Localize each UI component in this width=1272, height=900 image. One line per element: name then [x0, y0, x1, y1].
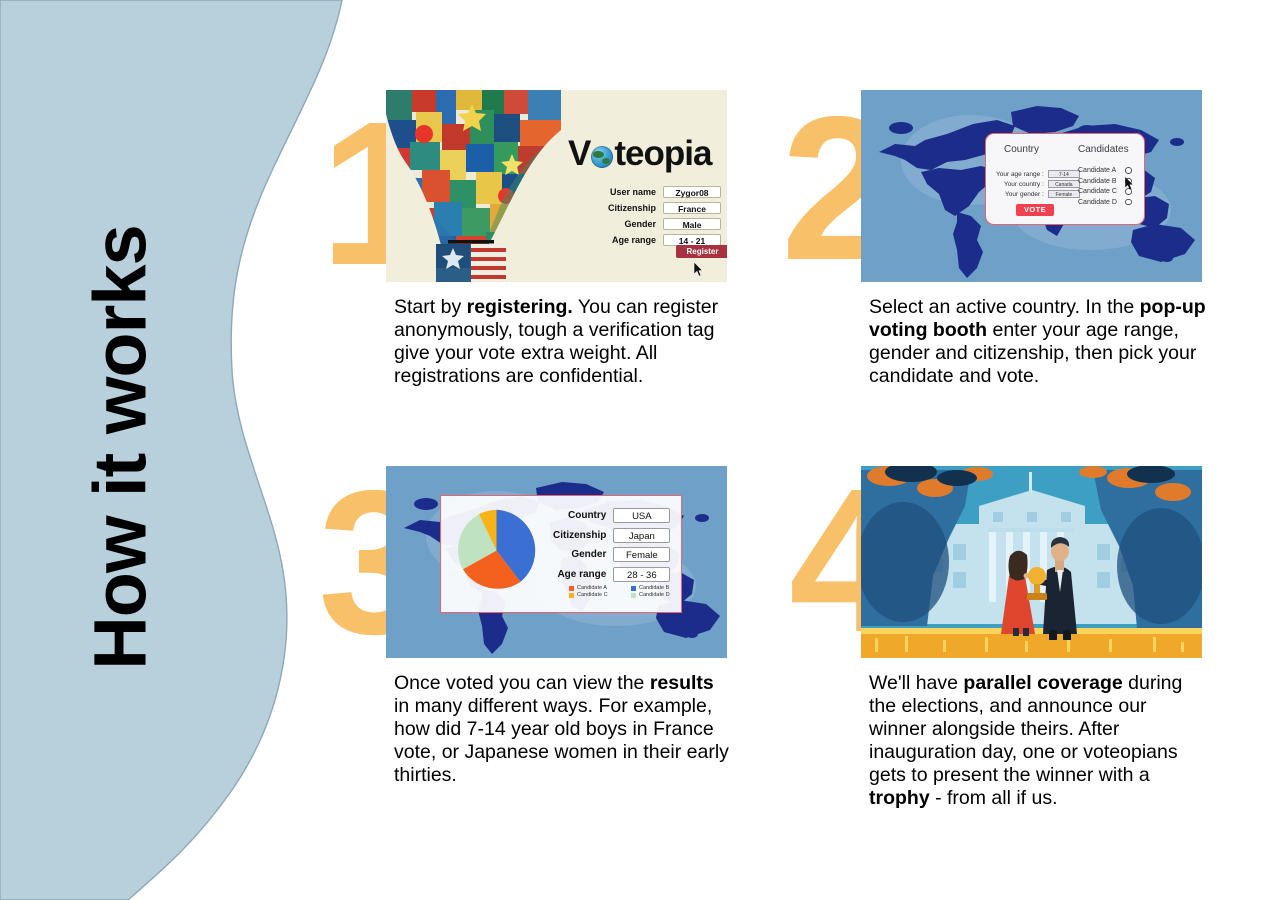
booth-age-label: Your age range : — [996, 171, 1044, 178]
step-4-image — [861, 466, 1202, 658]
candidate-d-label: Candidate D — [1078, 199, 1122, 206]
flag-collage-illustration — [386, 90, 561, 282]
caption-seg: Start by — [394, 296, 467, 318]
booth-heading-candidates: Candidates — [1078, 144, 1129, 155]
citizenship-input[interactable]: France — [663, 202, 721, 214]
legend-label-c: Candidate C — [577, 592, 608, 598]
legend-swatch-c — [569, 593, 574, 598]
step-2-image: Country Candidates Your age range : 7-14… — [861, 90, 1202, 282]
candidate-option-b[interactable]: Candidate B — [1078, 178, 1132, 185]
legend-label-b: Candidate B — [639, 585, 669, 591]
legend-swatch-a — [569, 586, 574, 591]
candidate-c-label: Candidate C — [1078, 188, 1122, 195]
result-row-citizenship: Citizenship Japan — [553, 528, 670, 543]
result-row-agerange: Age range 28 - 36 — [553, 567, 670, 582]
caption-seg: - from all if us. — [930, 787, 1058, 809]
logo-text-teopia: teopia — [614, 134, 711, 174]
result-gender-input[interactable]: Female — [613, 547, 670, 562]
result-gender-label: Gender — [571, 549, 606, 560]
legend-label-a: Candidate A — [577, 585, 607, 591]
booth-heading-country: Country — [1004, 144, 1039, 155]
candidate-option-a[interactable]: Candidate A — [1078, 167, 1132, 174]
white-house-scene — [861, 466, 1202, 658]
step-card-4: 4 — [861, 466, 1206, 658]
result-row-gender: Gender Female — [553, 547, 670, 562]
legend-item-candidate-c: Candidate C — [569, 592, 625, 598]
step-2-caption: Select an active country. In the pop-up … — [869, 296, 1209, 388]
caption-seg-bold: parallel coverage — [963, 672, 1122, 694]
mouse-cursor-icon — [694, 262, 705, 277]
caption-seg-bold: registering. — [467, 296, 573, 318]
results-filter-form: Country USA Citizenship Japan Gender Fem… — [553, 508, 670, 586]
white-house-illustration — [861, 466, 1202, 658]
username-label: User name — [610, 187, 656, 197]
gender-label: Gender — [625, 219, 657, 229]
result-agerange-input[interactable]: 28 - 36 — [613, 567, 670, 582]
candidate-option-c[interactable]: Candidate C — [1078, 188, 1132, 195]
booth-country-input[interactable]: Canada — [1048, 180, 1080, 188]
legend-item-candidate-a: Candidate A — [569, 585, 625, 591]
vote-button[interactable]: VOTE — [1016, 204, 1054, 216]
booth-row-gender: Your gender : Female — [996, 190, 1080, 198]
candidate-a-label: Candidate A — [1078, 167, 1122, 174]
booth-row-country: Your country : Canada — [996, 180, 1080, 188]
candidate-radio-group: Candidate A Candidate B Candidate C — [1078, 167, 1132, 209]
caption-seg-bold: trophy — [869, 787, 930, 809]
form-row-citizenship: Citizenship France — [608, 202, 721, 214]
caption-seg: We'll have — [869, 672, 963, 694]
form-row-username: User name Zygor08 — [608, 186, 721, 198]
booth-country-label: Your country : — [1004, 181, 1044, 188]
page-title: How it works — [78, 98, 163, 798]
result-country-input[interactable]: USA — [613, 508, 670, 523]
step-3-caption: Once voted you can view the results in m… — [394, 672, 734, 787]
booth-gender-input[interactable]: Female — [1048, 190, 1080, 198]
result-row-country: Country USA — [553, 508, 670, 523]
result-citizenship-input[interactable]: Japan — [613, 528, 670, 543]
radio-candidate-b[interactable] — [1125, 178, 1132, 185]
step-1-caption: Start by registering. You can register a… — [394, 296, 734, 388]
caption-seg: Select an active country. In the — [869, 296, 1140, 318]
step-4-caption: We'll have parallel coverage during the … — [869, 672, 1209, 810]
booth-row-age: Your age range : 7-14 — [996, 170, 1080, 178]
username-input[interactable]: Zygor08 — [663, 186, 721, 198]
radio-candidate-d[interactable] — [1125, 199, 1132, 206]
step-3-image: Country USA Citizenship Japan Gender Fem… — [386, 466, 727, 658]
result-country-label: Country — [568, 510, 606, 521]
citizenship-label: Citizenship — [608, 203, 656, 213]
globe-icon — [591, 146, 613, 168]
registration-form: User name Zygor08 Citizenship France Gen… — [608, 186, 721, 250]
agerange-label: Age range — [612, 235, 656, 245]
caption-seg: in many different ways. For example, how… — [394, 695, 729, 786]
step-1-image: Vteopia User name Zygor08 Citizenship Fr… — [386, 90, 727, 282]
result-agerange-label: Age range — [557, 569, 606, 580]
step-card-3: 3 — [386, 466, 731, 658]
pie-chart-legend: Candidate A Candidate B Candidate C Cand… — [569, 585, 687, 598]
candidate-b-label: Candidate B — [1078, 178, 1122, 185]
results-panel: Country USA Citizenship Japan Gender Fem… — [440, 495, 682, 613]
logo-text-v: V — [568, 134, 590, 174]
radio-candidate-a[interactable] — [1125, 167, 1132, 174]
caption-seg: Once voted you can view the — [394, 672, 650, 694]
mouse-cursor-icon — [1125, 177, 1135, 190]
legend-swatch-d — [631, 593, 636, 598]
caption-seg-bold: results — [650, 672, 714, 694]
popup-voting-booth: Country Candidates Your age range : 7-14… — [985, 133, 1145, 225]
legend-item-candidate-b: Candidate B — [631, 585, 687, 591]
register-button[interactable]: Register — [676, 245, 727, 258]
voteopia-logo: Vteopia — [568, 134, 711, 174]
poster-root: How it works 1 — [0, 0, 1272, 900]
result-citizenship-label: Citizenship — [553, 530, 606, 541]
legend-swatch-b — [631, 586, 636, 591]
step-card-2: 2 — [861, 90, 1206, 282]
legend-item-candidate-d: Candidate D — [631, 592, 687, 598]
gender-input[interactable]: Male — [663, 218, 721, 230]
booth-age-input[interactable]: 7-14 — [1048, 170, 1080, 178]
ballot-box — [436, 240, 506, 282]
step-card-1: 1 — [386, 90, 731, 282]
legend-label-d: Candidate D — [639, 592, 670, 598]
results-pie-chart — [454, 508, 539, 593]
booth-form: Your age range : 7-14 Your country : Can… — [996, 170, 1080, 200]
booth-gender-label: Your gender : — [1005, 191, 1044, 198]
form-row-gender: Gender Male — [608, 218, 721, 230]
candidate-option-d[interactable]: Candidate D — [1078, 199, 1132, 206]
